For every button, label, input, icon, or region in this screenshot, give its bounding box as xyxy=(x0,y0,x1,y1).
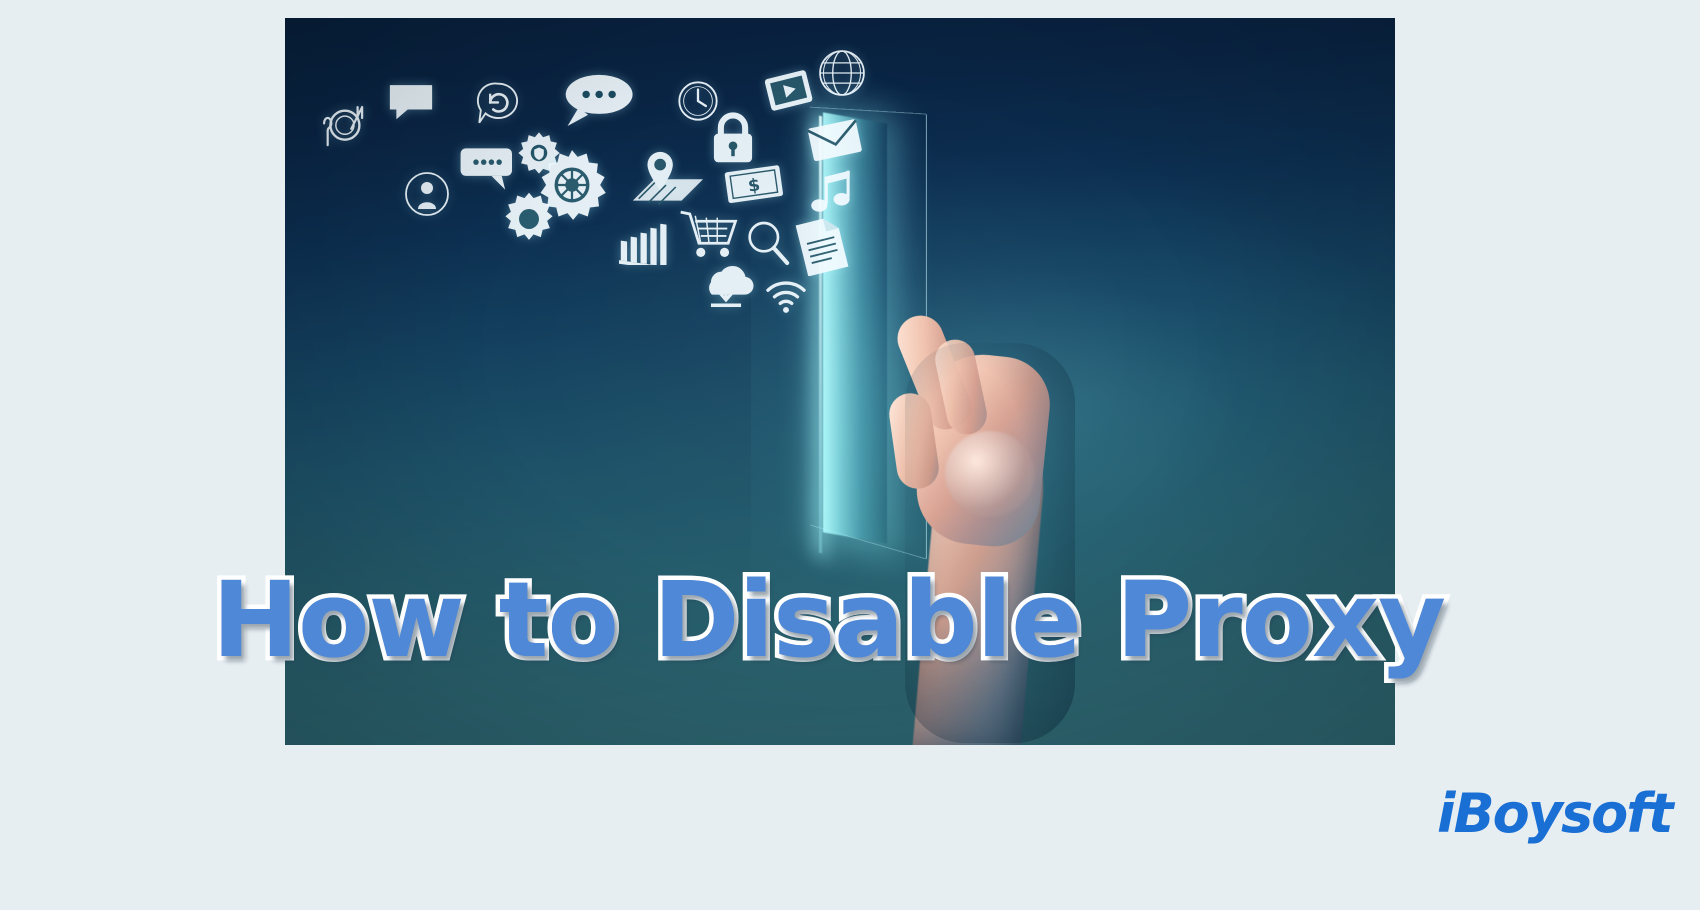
chat-bubble-icon xyxy=(385,80,437,126)
knuckles xyxy=(945,431,1035,517)
wifi-signal-icon xyxy=(763,276,809,316)
password-field-icon xyxy=(457,145,519,193)
iboysoft-logo[interactable]: iBoysoft xyxy=(1437,785,1672,843)
lock-icon xyxy=(707,110,759,166)
bar-chart-icon xyxy=(615,213,675,265)
user-avatar-icon xyxy=(403,170,451,218)
page-title: How to Disable Proxy xyxy=(212,560,1492,680)
gear-small-icon xyxy=(500,190,558,248)
video-play-icon xyxy=(763,68,815,116)
cloud-download-icon xyxy=(695,256,757,312)
money-cash-icon: $ xyxy=(723,163,785,207)
speech-dots-icon xyxy=(562,70,640,130)
cutlery-plate-icon xyxy=(315,98,373,156)
refresh-bubble-icon xyxy=(473,78,523,130)
document-file-icon xyxy=(793,216,851,276)
envelope-mail-icon xyxy=(807,118,863,164)
page-root: $ xyxy=(0,0,1700,910)
globe-network-icon xyxy=(815,46,869,100)
music-note-icon xyxy=(803,168,857,218)
